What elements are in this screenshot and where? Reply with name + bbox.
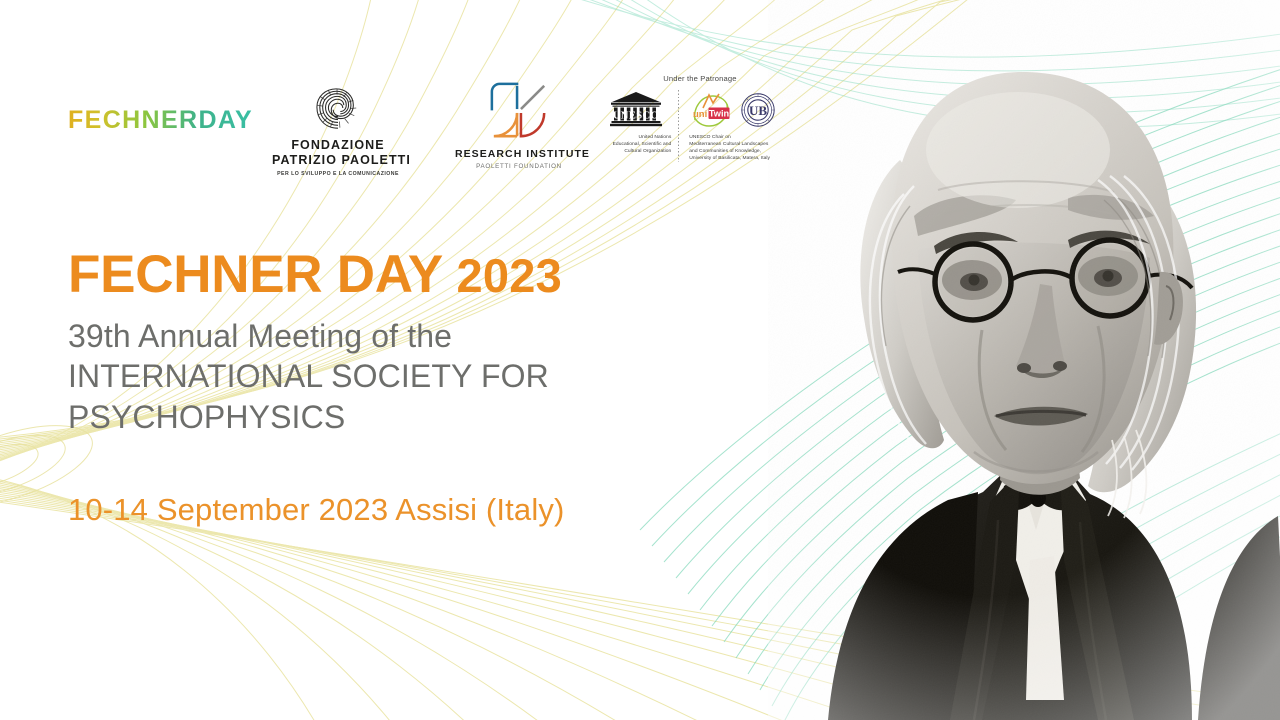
page-title: FECHNER DAY 2023 (68, 248, 708, 302)
unesco-logo: UNESCO United Nations Educational, Scien… (600, 90, 671, 155)
foundation-tagline: PER LO SVILUPPO E LA COMUNICAZIONE (272, 171, 404, 177)
chair-caption-line2: Mediterranean Cultural Landscapes (689, 141, 770, 148)
unesco-caption-line1: United Nations (600, 134, 671, 141)
logo-strip: FECHNERDAY (0, 0, 1280, 190)
unesco-caption-line2: Educational, Scientific and (600, 141, 671, 148)
title-main: FECHNER DAY (68, 245, 457, 304)
svg-text:Twin: Twin (709, 109, 730, 119)
unesco-temple-icon: UNESCO (607, 90, 665, 130)
unesco-caption: United Nations Educational, Scientific a… (600, 134, 671, 155)
foundation-logo: FONDAZIONE PATRIZIO PAOLETTI PER LO SVIL… (272, 86, 404, 177)
unesco-caption-line3: Cultural Organization (600, 148, 671, 155)
chair-caption: UNESCO Chair on Mediterranean Cultural L… (686, 134, 770, 162)
pinwheel-quadrant-icon (488, 80, 550, 142)
subtitle-line1: 39th Annual Meeting of the (68, 316, 708, 356)
research-institute-sub: PAOLETTI FOUNDATION (455, 163, 583, 170)
patronage-heading: Under the Patronage (600, 74, 800, 83)
subtitle-line3: PSYCHOPHYSICS (68, 397, 708, 437)
patronage-block: Under the Patronage (600, 74, 800, 162)
unitwin-icon: uni Twin (689, 90, 733, 130)
svg-text:UB: UB (749, 103, 767, 118)
university-basilicata-seal-icon: UB (741, 93, 775, 127)
patronage-divider (678, 90, 679, 162)
unesco-chair-logo: uni Twin (686, 90, 800, 162)
headline-block: FECHNER DAY 2023 39th Annual Meeting of … (68, 248, 708, 437)
fechnerday-wordmark: FECHNERDAY (68, 108, 253, 133)
foundation-name-line1: FONDAZIONE (272, 138, 404, 153)
event-dateline: 10-14 September 2023 Assisi (Italy) (68, 492, 565, 528)
chair-marks: uni Twin (686, 90, 775, 130)
conference-poster: FECHNERDAY (0, 0, 1280, 720)
foundation-name-line2: PATRIZIO PAOLETTI (272, 153, 404, 168)
page-subtitle: 39th Annual Meeting of the INTERNATIONAL… (68, 316, 708, 437)
teal-fan-bottom (856, 420, 1280, 720)
svg-text:UNESCO: UNESCO (613, 110, 659, 121)
research-institute-name: RESEARCH INSTITUTE (455, 148, 583, 161)
chair-caption-line1: UNESCO Chair on (689, 134, 770, 141)
chair-caption-line4: University of Basilicata, Matera, Italy (689, 155, 770, 162)
svg-text:uni: uni (693, 109, 707, 120)
subtitle-line2: INTERNATIONAL SOCIETY FOR (68, 356, 708, 396)
research-institute-logo: RESEARCH INSTITUTE PAOLETTI FOUNDATION (455, 80, 583, 170)
title-year: 2023 (457, 249, 563, 302)
spiral-shell-icon (315, 86, 361, 132)
chair-caption-line3: and Communities of Knowledge, (689, 148, 770, 155)
